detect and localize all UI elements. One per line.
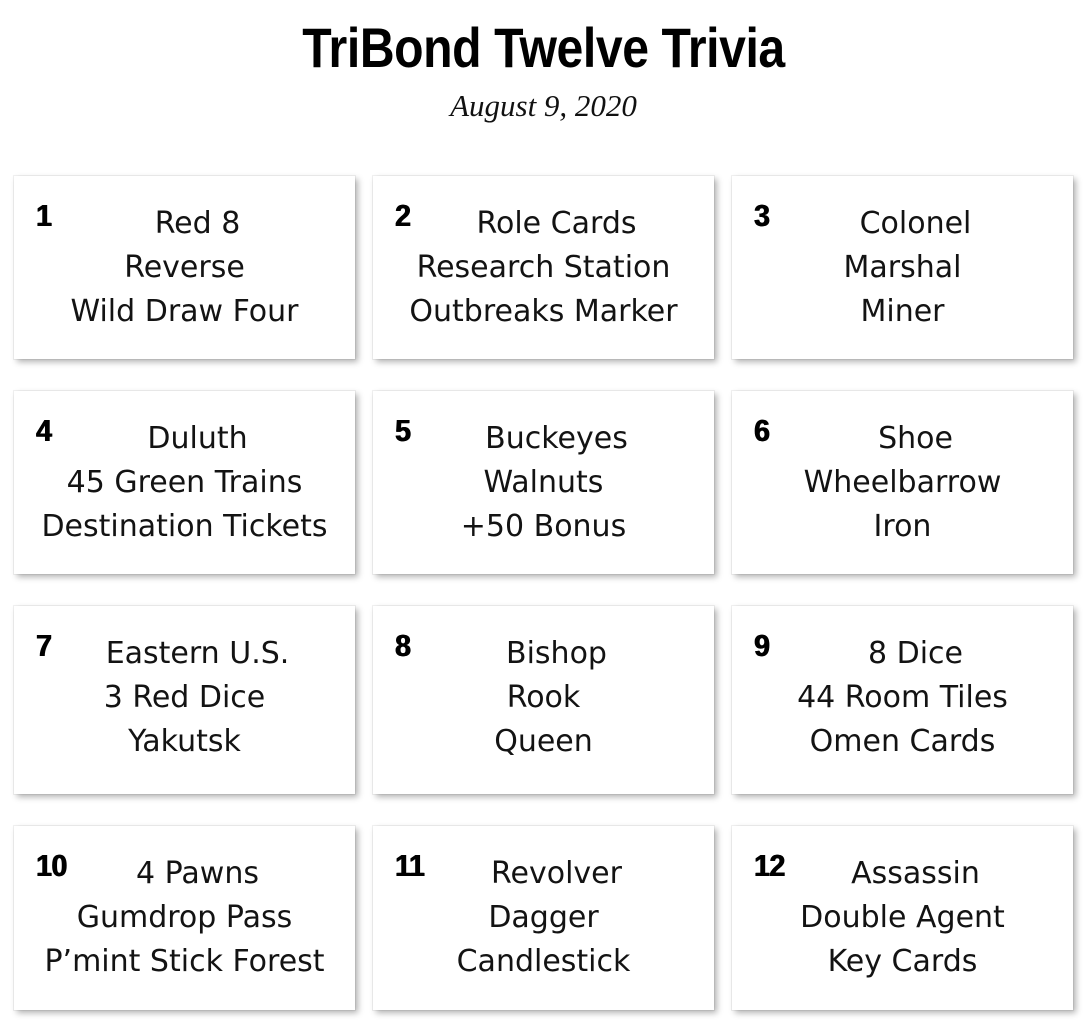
sheet-header: TriBond Twelve Trivia August 9, 2020 [0,0,1087,124]
card-clue-list: BishopRookQueen [373,632,714,764]
card-clue-line: Revolver [373,852,714,896]
card-clue-line: Yakutsk [14,720,355,764]
card-clue-line: 44 Room Tiles [732,676,1073,720]
card-clue-line: Assassin [732,852,1073,896]
card-clue-list: 8 Dice44 Room TilesOmen Cards [732,632,1073,764]
card-clue-line: 8 Dice [732,632,1073,676]
card-clue-line: Dagger [373,896,714,940]
card-clue-line: Candlestick [373,940,714,984]
card-clue-line: +50 Bonus [373,505,714,549]
trivia-card[interactable]: 2Role CardsResearch StationOutbreaks Mar… [373,176,714,359]
card-clue-line: Gumdrop Pass [14,896,355,940]
page-title: TriBond Twelve Trivia [76,18,1011,78]
trivia-card[interactable]: 1Red 8ReverseWild Draw Four [14,176,355,359]
card-clue-line: Rook [373,676,714,720]
card-clue-list: ShoeWheelbarrowIron [732,417,1073,549]
card-clue-line: 3 Red Dice [14,676,355,720]
trivia-card[interactable]: 6ShoeWheelbarrowIron [732,391,1073,574]
card-clue-line: Destination Tickets [14,505,355,549]
trivia-card[interactable]: 7Eastern U.S.3 Red DiceYakutsk [14,606,355,794]
trivia-card[interactable]: 4Duluth45 Green TrainsDestination Ticket… [14,391,355,574]
card-clue-list: Eastern U.S.3 Red DiceYakutsk [14,632,355,764]
card-clue-line: Wild Draw Four [14,290,355,334]
card-clue-line: Key Cards [732,940,1073,984]
card-clue-line: Research Station [373,246,714,290]
trivia-card[interactable]: 12AssassinDouble AgentKey Cards [732,826,1073,1010]
card-clue-line: Colonel [732,202,1073,246]
card-clue-line: Omen Cards [732,720,1073,764]
card-clue-list: Role CardsResearch StationOutbreaks Mark… [373,202,714,334]
trivia-card[interactable]: 98 Dice44 Room TilesOmen Cards [732,606,1073,794]
card-clue-line: P’mint Stick Forest [14,940,355,984]
card-clue-line: Outbreaks Marker [373,290,714,334]
card-clue-line: Duluth [14,417,355,461]
trivia-card[interactable]: 3ColonelMarshalMiner [732,176,1073,359]
trivia-card[interactable]: 104 PawnsGumdrop PassP’mint Stick Forest [14,826,355,1010]
card-clue-line: Miner [732,290,1073,334]
card-clue-line: Queen [373,720,714,764]
card-clue-line: Iron [732,505,1073,549]
trivia-sheet: TriBond Twelve Trivia August 9, 2020 1Re… [0,0,1087,1021]
card-clue-line: Marshal [732,246,1073,290]
card-clue-line: 4 Pawns [14,852,355,896]
card-clue-line: Wheelbarrow [732,461,1073,505]
card-clue-list: BuckeyesWalnuts+50 Bonus [373,417,714,549]
card-clue-list: AssassinDouble AgentKey Cards [732,852,1073,984]
card-clue-line: Eastern U.S. [14,632,355,676]
card-clue-line: Walnuts [373,461,714,505]
page-date: August 9, 2020 [0,88,1087,124]
trivia-card[interactable]: 5BuckeyesWalnuts+50 Bonus [373,391,714,574]
card-clue-line: Shoe [732,417,1073,461]
trivia-card[interactable]: 8BishopRookQueen [373,606,714,794]
card-clue-line: 45 Green Trains [14,461,355,505]
card-clue-line: Red 8 [14,202,355,246]
card-clue-line: Reverse [14,246,355,290]
card-clue-list: 4 PawnsGumdrop PassP’mint Stick Forest [14,852,355,984]
card-clue-list: Red 8ReverseWild Draw Four [14,202,355,334]
card-clue-list: Duluth45 Green TrainsDestination Tickets [14,417,355,549]
trivia-card-grid: 1Red 8ReverseWild Draw Four2Role CardsRe… [14,176,1073,1010]
card-clue-line: Double Agent [732,896,1073,940]
card-clue-list: RevolverDaggerCandlestick [373,852,714,984]
card-clue-line: Role Cards [373,202,714,246]
trivia-card[interactable]: 11RevolverDaggerCandlestick [373,826,714,1010]
card-clue-line: Buckeyes [373,417,714,461]
card-clue-line: Bishop [373,632,714,676]
card-clue-list: ColonelMarshalMiner [732,202,1073,334]
